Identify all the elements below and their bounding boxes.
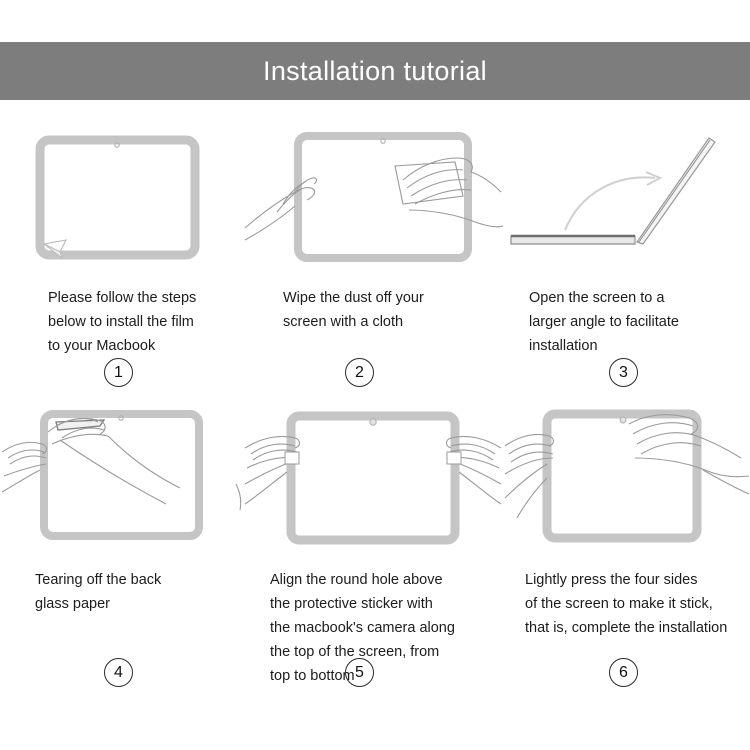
step-number-3: 3	[609, 358, 638, 387]
step-number-2: 2	[345, 358, 374, 387]
laptop-open-angle-icon	[503, 118, 750, 268]
step-5-caption: Align the round hole above the protectiv…	[270, 568, 485, 688]
hand-pressing-film-icon	[503, 400, 750, 550]
step-card-1: Please follow the steps below to install…	[0, 118, 243, 400]
step-number-5: 5	[345, 658, 374, 687]
step-card-3: Open the screen to a larger angle to fac…	[503, 118, 750, 400]
step-6-illustration	[503, 400, 750, 550]
step-1-caption: Please follow the steps below to install…	[48, 286, 233, 358]
step-card-2: Wipe the dust off your screen with a clo…	[243, 118, 503, 400]
two-hands-aligning-film-icon	[243, 400, 503, 550]
step-3-caption: Open the screen to a larger angle to fac…	[529, 286, 744, 358]
step-number-4: 4	[104, 658, 133, 687]
step-3-illustration	[503, 118, 750, 268]
macbook-screen-peeling-film-icon	[0, 118, 243, 268]
step-2-caption: Wipe the dust off your screen with a clo…	[283, 286, 488, 334]
step-card-4: Tearing off the back glass paper 4	[0, 400, 243, 682]
step-6-caption: Lightly press the four sides of the scre…	[525, 568, 750, 640]
step-1-illustration	[0, 118, 243, 268]
step-number-1: 1	[104, 358, 133, 387]
installation-tutorial-page: Installation tutorial Please follow the …	[0, 0, 750, 750]
step-card-6: Lightly press the four sides of the scre…	[503, 400, 750, 682]
step-4-caption: Tearing off the back glass paper	[35, 568, 225, 616]
page-title: Installation tutorial	[263, 56, 487, 87]
step-number-6: 6	[609, 658, 638, 687]
step-4-illustration	[0, 400, 243, 550]
hands-tearing-back-paper-icon	[0, 400, 243, 550]
step-card-5: Align the round hole above the protectiv…	[243, 400, 503, 682]
hand-wiping-screen-icon	[243, 118, 503, 268]
header-bar: Installation tutorial	[0, 42, 750, 100]
steps-grid: Please follow the steps below to install…	[0, 118, 750, 682]
step-2-illustration	[243, 118, 503, 268]
step-5-illustration	[243, 400, 503, 550]
